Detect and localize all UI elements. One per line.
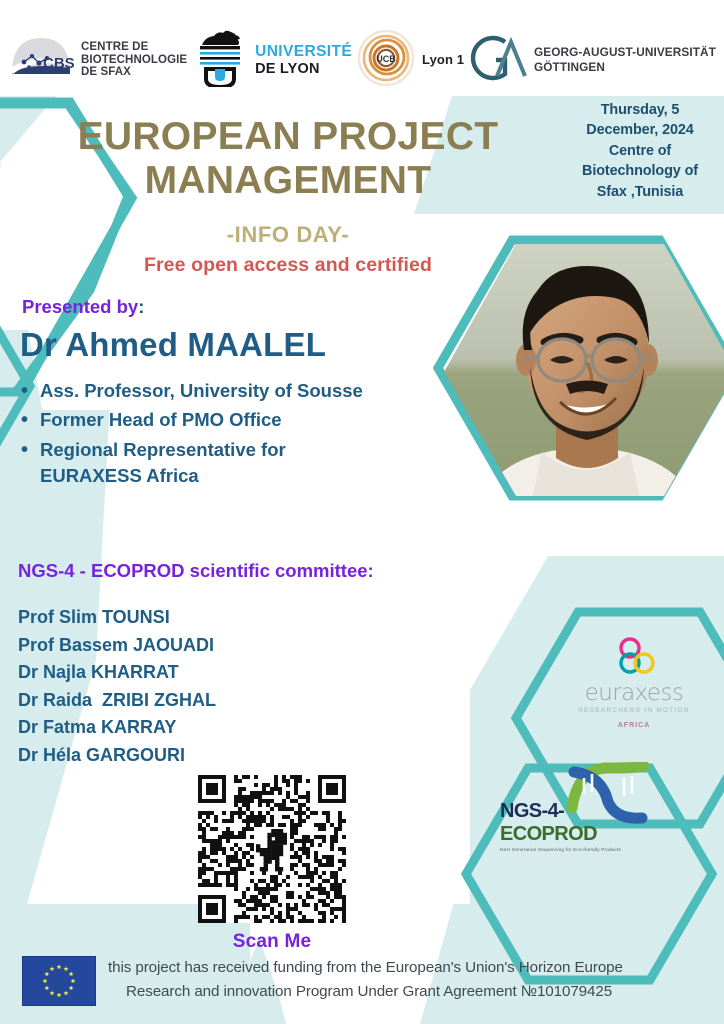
udl-line-2: DE LYON (255, 61, 352, 77)
ngs4ecoprod-logo: NGS-4-ECOPROD Next Generation Sequencing… (500, 800, 650, 852)
universite-de-lyon-logo: UNIVERSITÉ DE LYON (192, 29, 352, 92)
speaker-photo (438, 238, 724, 500)
poster-root: CBS CENTRE DE BIOTECHNOLOGIE DE SFAX (0, 0, 724, 1024)
list-item: Prof Bassem JAOUADI (18, 632, 216, 660)
list-item: Prof Slim TOUNSI (18, 604, 216, 632)
list-item: Regional Representative for EURAXESS Afr… (16, 437, 436, 490)
title-line-1: EUROPEAN PROJECT (28, 115, 548, 159)
cbs-line-2: BIOTECHNOLOGIE (81, 54, 187, 67)
event-date-location: Thursday, 5 December, 2024 Centre of Bio… (560, 100, 720, 202)
qr-code[interactable] (198, 775, 346, 923)
svg-text:CBS: CBS (43, 55, 74, 72)
eu-flag-icon (22, 956, 96, 1006)
udl-line-1: UNIVERSITÉ (255, 43, 352, 60)
list-item: Dr Fatma KARRAY (18, 714, 216, 742)
cbs-logo: CBS CENTRE DE BIOTECHNOLOGIE DE SFAX (8, 34, 187, 87)
ngs4ecoprod-prefix: NGS-4- (500, 800, 564, 822)
ngs4ecoprod-tagline: Next Generation Sequencing for Eco-frien… (500, 847, 650, 852)
euraxess-wordmark: euraxess (570, 680, 698, 706)
speaker-credentials: Ass. Professor, University of Sousse For… (16, 378, 436, 492)
page-title: EUROPEAN PROJECT MANAGEMENT (28, 115, 548, 202)
svg-text:UCB: UCB (376, 54, 396, 64)
goettingen-logo: GEORG-AUGUST-UNIVERSITÄT GÖTTINGEN (469, 30, 716, 91)
cbs-line-3: DE SFAX (81, 66, 187, 79)
funding-line-2: Research and innovation Program Under Gr… (108, 980, 708, 1004)
partner-logo-bar: CBS CENTRE DE BIOTECHNOLOGIE DE SFAX (0, 24, 724, 96)
funding-statement: this project has received funding from t… (108, 956, 708, 1003)
lyon1-logo: UCB Lyon 1 (357, 29, 464, 92)
cbs-logo-text: CENTRE DE BIOTECHNOLOGIE DE SFAX (81, 41, 187, 80)
title-line-2: MANAGEMENT (28, 159, 548, 203)
ga-monogram-icon (469, 30, 527, 91)
presented-by-colon: : (138, 296, 144, 317)
goettingen-text: GEORG-AUGUST-UNIVERSITÄT GÖTTINGEN (534, 45, 716, 74)
dna-helix-icon (562, 762, 654, 829)
committee-members: Prof Slim TOUNSI Prof Bassem JAOUADI Dr … (18, 604, 216, 769)
speaker-name: Dr Ahmed MAALEL (20, 326, 326, 364)
list-item: Dr Raida ZRIBI ZGHAL (18, 687, 216, 715)
qr-caption: Scan Me (198, 931, 346, 953)
presented-by-text: Presented by (22, 296, 138, 317)
universite-de-lyon-text: UNIVERSITÉ DE LYON (255, 43, 352, 77)
goettingen-line-2: GÖTTINGEN (534, 60, 716, 75)
goettingen-line-1: GEORG-AUGUST-UNIVERSITÄT (534, 45, 716, 60)
presented-by-label: Presented by: (22, 296, 144, 318)
list-item: Dr Najla KHARRAT (18, 659, 216, 687)
list-item: Ass. Professor, University of Sousse (16, 378, 436, 404)
lion-pillars-icon (192, 29, 248, 92)
euraxess-logo: euraxess RESEARCHERS IN MOTION AFRICA (570, 636, 698, 729)
lyon1-label: Lyon 1 (422, 53, 464, 68)
list-item: Dr Héla GARGOURI (18, 742, 216, 770)
cbs-line-1: CENTRE DE (81, 41, 187, 54)
cbs-dome-icon: CBS (8, 34, 74, 87)
ucbl-rings-icon: UCB (357, 29, 415, 92)
committee-heading: NGS-4 - ECOPROD scientific committee: (18, 560, 374, 582)
list-item: Former Head of PMO Office (16, 407, 436, 433)
euraxess-tagline: RESEARCHERS IN MOTION (570, 707, 698, 714)
euraxess-region: AFRICA (570, 720, 698, 729)
qr-code-block[interactable]: Scan Me (198, 775, 346, 953)
funding-line-1: this project has received funding from t… (108, 956, 708, 980)
euraxess-rings-icon (570, 636, 698, 680)
